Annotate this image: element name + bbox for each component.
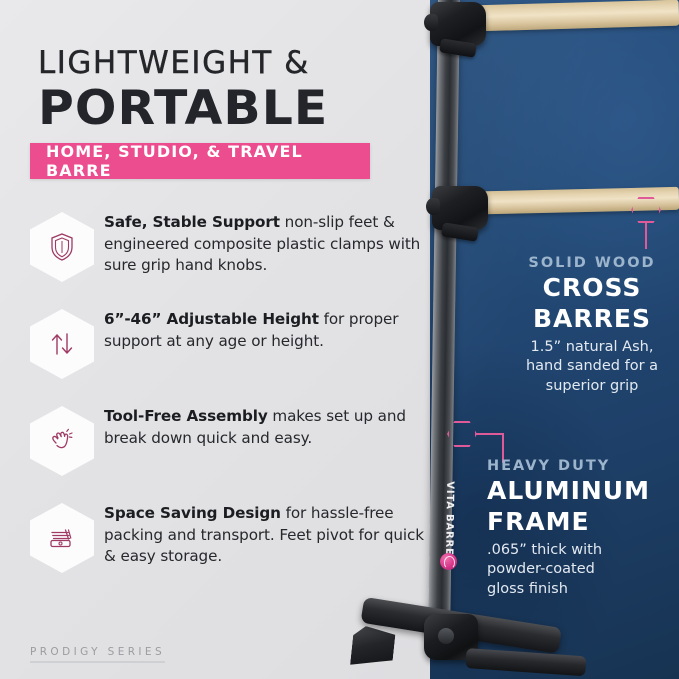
callout-title-line-2: FRAME — [487, 508, 667, 536]
hexagon-marker-icon — [447, 421, 477, 447]
headline-block: LIGHTWEIGHT & PORTABLE — [38, 48, 398, 133]
shield-icon — [30, 212, 94, 282]
subtitle-banner-text: HOME, STUDIO, & TRAVEL BARRE — [46, 142, 370, 180]
feature-icon-frame — [26, 402, 98, 478]
feature-icon-frame — [26, 499, 98, 575]
feature-title: 6”-46” Adjustable Height — [104, 310, 319, 328]
connector-stem-horizontal — [476, 433, 504, 435]
upper-clamp — [430, 2, 486, 46]
list-item: 6”-46” Adjustable Height for proper supp… — [26, 303, 426, 381]
callout-kicker: HEAVY DUTY — [487, 458, 667, 474]
headline-line-2: PORTABLE — [38, 84, 412, 133]
feature-title: Space Saving Design — [104, 504, 281, 522]
lower-clamp — [432, 186, 488, 230]
feature-icon-frame — [26, 305, 98, 381]
list-item-text: Space Saving Design for hassle-free pack… — [104, 497, 426, 568]
callout-description: .065” thick with powder-coated gloss fin… — [487, 541, 667, 599]
list-item: Safe, Stable Support non-slip feet & eng… — [26, 206, 426, 284]
callout-description: 1.5” natural Ash, hand sanded for a supe… — [512, 338, 672, 396]
folded-stack-icon — [30, 503, 94, 573]
list-item: Tool-Free Assembly makes set up and brea… — [26, 400, 426, 478]
list-item-text: 6”-46” Adjustable Height for proper supp… — [104, 303, 426, 352]
feature-title: Tool-Free Assembly — [104, 407, 268, 425]
list-item: Space Saving Design for hassle-free pack… — [26, 497, 426, 575]
callout-title-line-1: CROSS — [512, 274, 672, 302]
callout-desc-line-2: powder-coated — [487, 560, 667, 579]
callout-cross-barres: SOLID WOOD CROSS BARRES 1.5” natural Ash… — [512, 255, 672, 396]
series-label: PRODIGY SERIES — [30, 646, 165, 663]
feature-title: Safe, Stable Support — [104, 213, 280, 231]
infographic-page: LIGHTWEIGHT & PORTABLE HOME, STUDIO, & T… — [0, 0, 679, 679]
feature-list: Safe, Stable Support non-slip feet & eng… — [26, 206, 426, 594]
callout-aluminum-frame: HEAVY DUTY ALUMINUM FRAME .065” thick wi… — [487, 458, 667, 599]
callout-title-line-1: ALUMINUM — [487, 477, 667, 505]
callout-kicker: SOLID WOOD — [512, 255, 672, 271]
list-item-text: Safe, Stable Support non-slip feet & eng… — [104, 206, 426, 277]
callout-desc-line-1: .065” thick with — [487, 541, 667, 560]
brand-label: VITA BARRE — [443, 481, 455, 555]
hand-clap-icon — [30, 406, 94, 476]
brand-text-on-post: VITA BARRE — [436, 487, 463, 549]
callout-title-line-2: BARRES — [512, 305, 672, 333]
hexagon-marker-icon — [631, 197, 661, 223]
up-down-arrows-icon — [30, 309, 94, 379]
headline-line-1: LIGHTWEIGHT & — [38, 48, 398, 79]
cross-barres-connector — [631, 197, 671, 257]
subtitle-banner: HOME, STUDIO, & TRAVEL BARRE — [30, 143, 370, 179]
list-item-text: Tool-Free Assembly makes set up and brea… — [104, 400, 426, 449]
connector-stem — [645, 223, 647, 249]
clamp-knob — [424, 14, 438, 31]
feature-icon-frame — [26, 208, 98, 284]
clamp-knob — [426, 198, 440, 215]
callout-desc-line-3: gloss finish — [487, 580, 667, 599]
